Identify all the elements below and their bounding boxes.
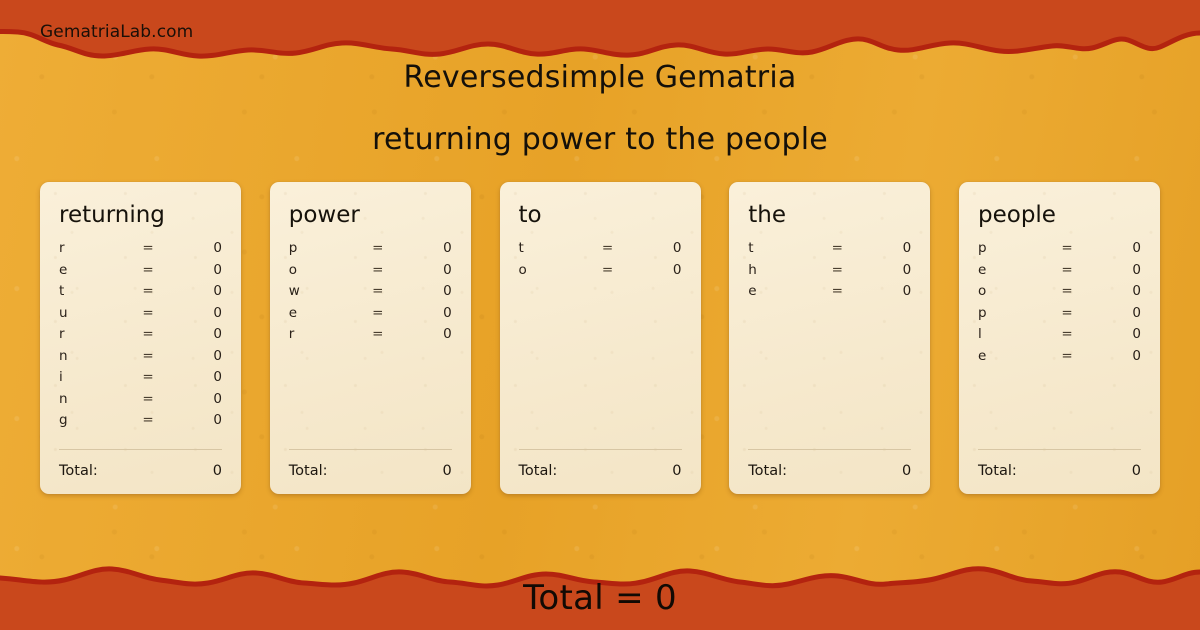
gematria-result-card: GematriaLab.com Reversedsimple Gematria …	[0, 0, 1200, 630]
letter-value: 0	[1078, 348, 1141, 364]
letter-value: 0	[159, 369, 222, 385]
card-total-value: 0	[443, 463, 452, 479]
letter-value-row: e=0	[59, 262, 222, 284]
letter-value-row: t=0	[59, 283, 222, 305]
equals-sign: =	[137, 369, 159, 385]
letter-label: o	[978, 283, 1056, 299]
word-card-title: the	[748, 200, 911, 230]
equals-sign: =	[1056, 262, 1078, 278]
card-total-value: 0	[213, 463, 222, 479]
letter-label: e	[978, 348, 1056, 364]
equals-sign: =	[1056, 240, 1078, 256]
word-card: peoplep=0e=0o=0p=0l=0e=0Total:0	[959, 182, 1160, 494]
letter-value-row: n=0	[59, 348, 222, 370]
letter-value: 0	[159, 262, 222, 278]
grand-total: Total = 0	[0, 578, 1200, 618]
letter-value: 0	[159, 305, 222, 321]
letter-label: t	[519, 240, 597, 256]
equals-sign: =	[137, 240, 159, 256]
equals-sign: =	[367, 305, 389, 321]
letter-value: 0	[1078, 262, 1141, 278]
letter-value-row: t=0	[519, 240, 682, 262]
letter-label: n	[59, 391, 137, 407]
letter-value-row: r=0	[59, 240, 222, 262]
heading-block: Reversedsimple Gematria returning power …	[0, 58, 1200, 160]
letter-value-row: u=0	[59, 305, 222, 327]
equals-sign: =	[367, 240, 389, 256]
equals-sign: =	[137, 391, 159, 407]
letter-value: 0	[159, 326, 222, 342]
letter-value-row: r=0	[59, 326, 222, 348]
letter-value: 0	[619, 262, 682, 278]
equals-sign: =	[137, 348, 159, 364]
letter-value: 0	[389, 326, 452, 342]
equals-sign: =	[137, 262, 159, 278]
card-total-value: 0	[1132, 463, 1141, 479]
word-card-title: people	[978, 200, 1141, 230]
letter-label: o	[289, 262, 367, 278]
word-card: returningr=0e=0t=0u=0r=0n=0i=0n=0g=0Tota…	[40, 182, 241, 494]
equals-sign: =	[597, 240, 619, 256]
letter-value-row: l=0	[978, 326, 1141, 348]
equals-sign: =	[137, 412, 159, 428]
letter-value: 0	[848, 262, 911, 278]
letter-label: e	[59, 262, 137, 278]
letter-value: 0	[389, 240, 452, 256]
equals-sign: =	[1056, 326, 1078, 342]
card-total-label: Total:	[519, 463, 673, 479]
letter-value-row: o=0	[289, 262, 452, 284]
letter-label: i	[59, 369, 137, 385]
letter-value: 0	[1078, 240, 1141, 256]
word-card-title: power	[289, 200, 452, 230]
letter-value-list: p=0o=0w=0e=0r=0	[289, 240, 452, 449]
letter-label: l	[978, 326, 1056, 342]
letter-value: 0	[1078, 283, 1141, 299]
letter-value-row: p=0	[978, 305, 1141, 327]
letter-label: e	[978, 262, 1056, 278]
letter-value-row: p=0	[978, 240, 1141, 262]
word-card-title: returning	[59, 200, 222, 230]
letter-label: h	[748, 262, 826, 278]
letter-value: 0	[619, 240, 682, 256]
equals-sign: =	[826, 262, 848, 278]
card-total-label: Total:	[59, 463, 213, 479]
equals-sign: =	[137, 283, 159, 299]
letter-value-row: e=0	[978, 348, 1141, 370]
letter-label: u	[59, 305, 137, 321]
equals-sign: =	[826, 240, 848, 256]
letter-label: o	[519, 262, 597, 278]
letter-value-row: n=0	[59, 391, 222, 413]
equals-sign: =	[597, 262, 619, 278]
letter-label: p	[978, 240, 1056, 256]
equals-sign: =	[1056, 305, 1078, 321]
letter-value-row: r=0	[289, 326, 452, 348]
letter-value-list: t=0o=0	[519, 240, 682, 449]
letter-value: 0	[389, 283, 452, 299]
letter-label: r	[289, 326, 367, 342]
card-total-row: Total:0	[748, 450, 911, 494]
card-total-label: Total:	[289, 463, 443, 479]
site-name: GematriaLab.com	[40, 22, 193, 42]
letter-value-list: r=0e=0t=0u=0r=0n=0i=0n=0g=0	[59, 240, 222, 449]
letter-value: 0	[159, 348, 222, 364]
letter-value: 0	[159, 283, 222, 299]
word-card: thet=0h=0e=0Total:0	[729, 182, 930, 494]
equals-sign: =	[137, 326, 159, 342]
cipher-title: Reversedsimple Gematria	[0, 58, 1200, 98]
equals-sign: =	[367, 262, 389, 278]
letter-value-row: o=0	[519, 262, 682, 284]
letter-label: e	[289, 305, 367, 321]
phrase-text: returning power to the people	[0, 120, 1200, 160]
card-total-row: Total:0	[978, 450, 1141, 494]
card-total-row: Total:0	[59, 450, 222, 494]
word-card: powerp=0o=0w=0e=0r=0Total:0	[270, 182, 471, 494]
word-card-title: to	[519, 200, 682, 230]
letter-value-list: p=0e=0o=0p=0l=0e=0	[978, 240, 1141, 449]
letter-value: 0	[1078, 305, 1141, 321]
card-total-row: Total:0	[289, 450, 452, 494]
letter-value: 0	[159, 391, 222, 407]
letter-value: 0	[389, 305, 452, 321]
equals-sign: =	[137, 305, 159, 321]
letter-value-row: t=0	[748, 240, 911, 262]
letter-label: t	[59, 283, 137, 299]
equals-sign: =	[367, 283, 389, 299]
letter-value: 0	[848, 240, 911, 256]
letter-value-row: g=0	[59, 412, 222, 434]
equals-sign: =	[1056, 348, 1078, 364]
letter-label: r	[59, 240, 137, 256]
letter-value-row: e=0	[748, 283, 911, 305]
letter-value: 0	[848, 283, 911, 299]
letter-value: 0	[1078, 326, 1141, 342]
card-total-label: Total:	[978, 463, 1132, 479]
letter-value-row: o=0	[978, 283, 1141, 305]
letter-value: 0	[389, 262, 452, 278]
letter-label: g	[59, 412, 137, 428]
letter-label: r	[59, 326, 137, 342]
word-card-row: returningr=0e=0t=0u=0r=0n=0i=0n=0g=0Tota…	[40, 182, 1160, 494]
equals-sign: =	[826, 283, 848, 299]
letter-value-row: e=0	[978, 262, 1141, 284]
letter-label: p	[978, 305, 1056, 321]
letter-value-row: p=0	[289, 240, 452, 262]
letter-label: w	[289, 283, 367, 299]
card-total-row: Total:0	[519, 450, 682, 494]
word-card: tot=0o=0Total:0	[500, 182, 701, 494]
letter-value-row: i=0	[59, 369, 222, 391]
card-total-value: 0	[902, 463, 911, 479]
letter-value-row: h=0	[748, 262, 911, 284]
equals-sign: =	[367, 326, 389, 342]
letter-value: 0	[159, 412, 222, 428]
card-total-value: 0	[672, 463, 681, 479]
letter-value-row: e=0	[289, 305, 452, 327]
letter-label: t	[748, 240, 826, 256]
letter-label: n	[59, 348, 137, 364]
card-total-label: Total:	[748, 463, 902, 479]
equals-sign: =	[1056, 283, 1078, 299]
letter-value-list: t=0h=0e=0	[748, 240, 911, 449]
letter-label: e	[748, 283, 826, 299]
letter-label: p	[289, 240, 367, 256]
letter-value-row: w=0	[289, 283, 452, 305]
letter-value: 0	[159, 240, 222, 256]
